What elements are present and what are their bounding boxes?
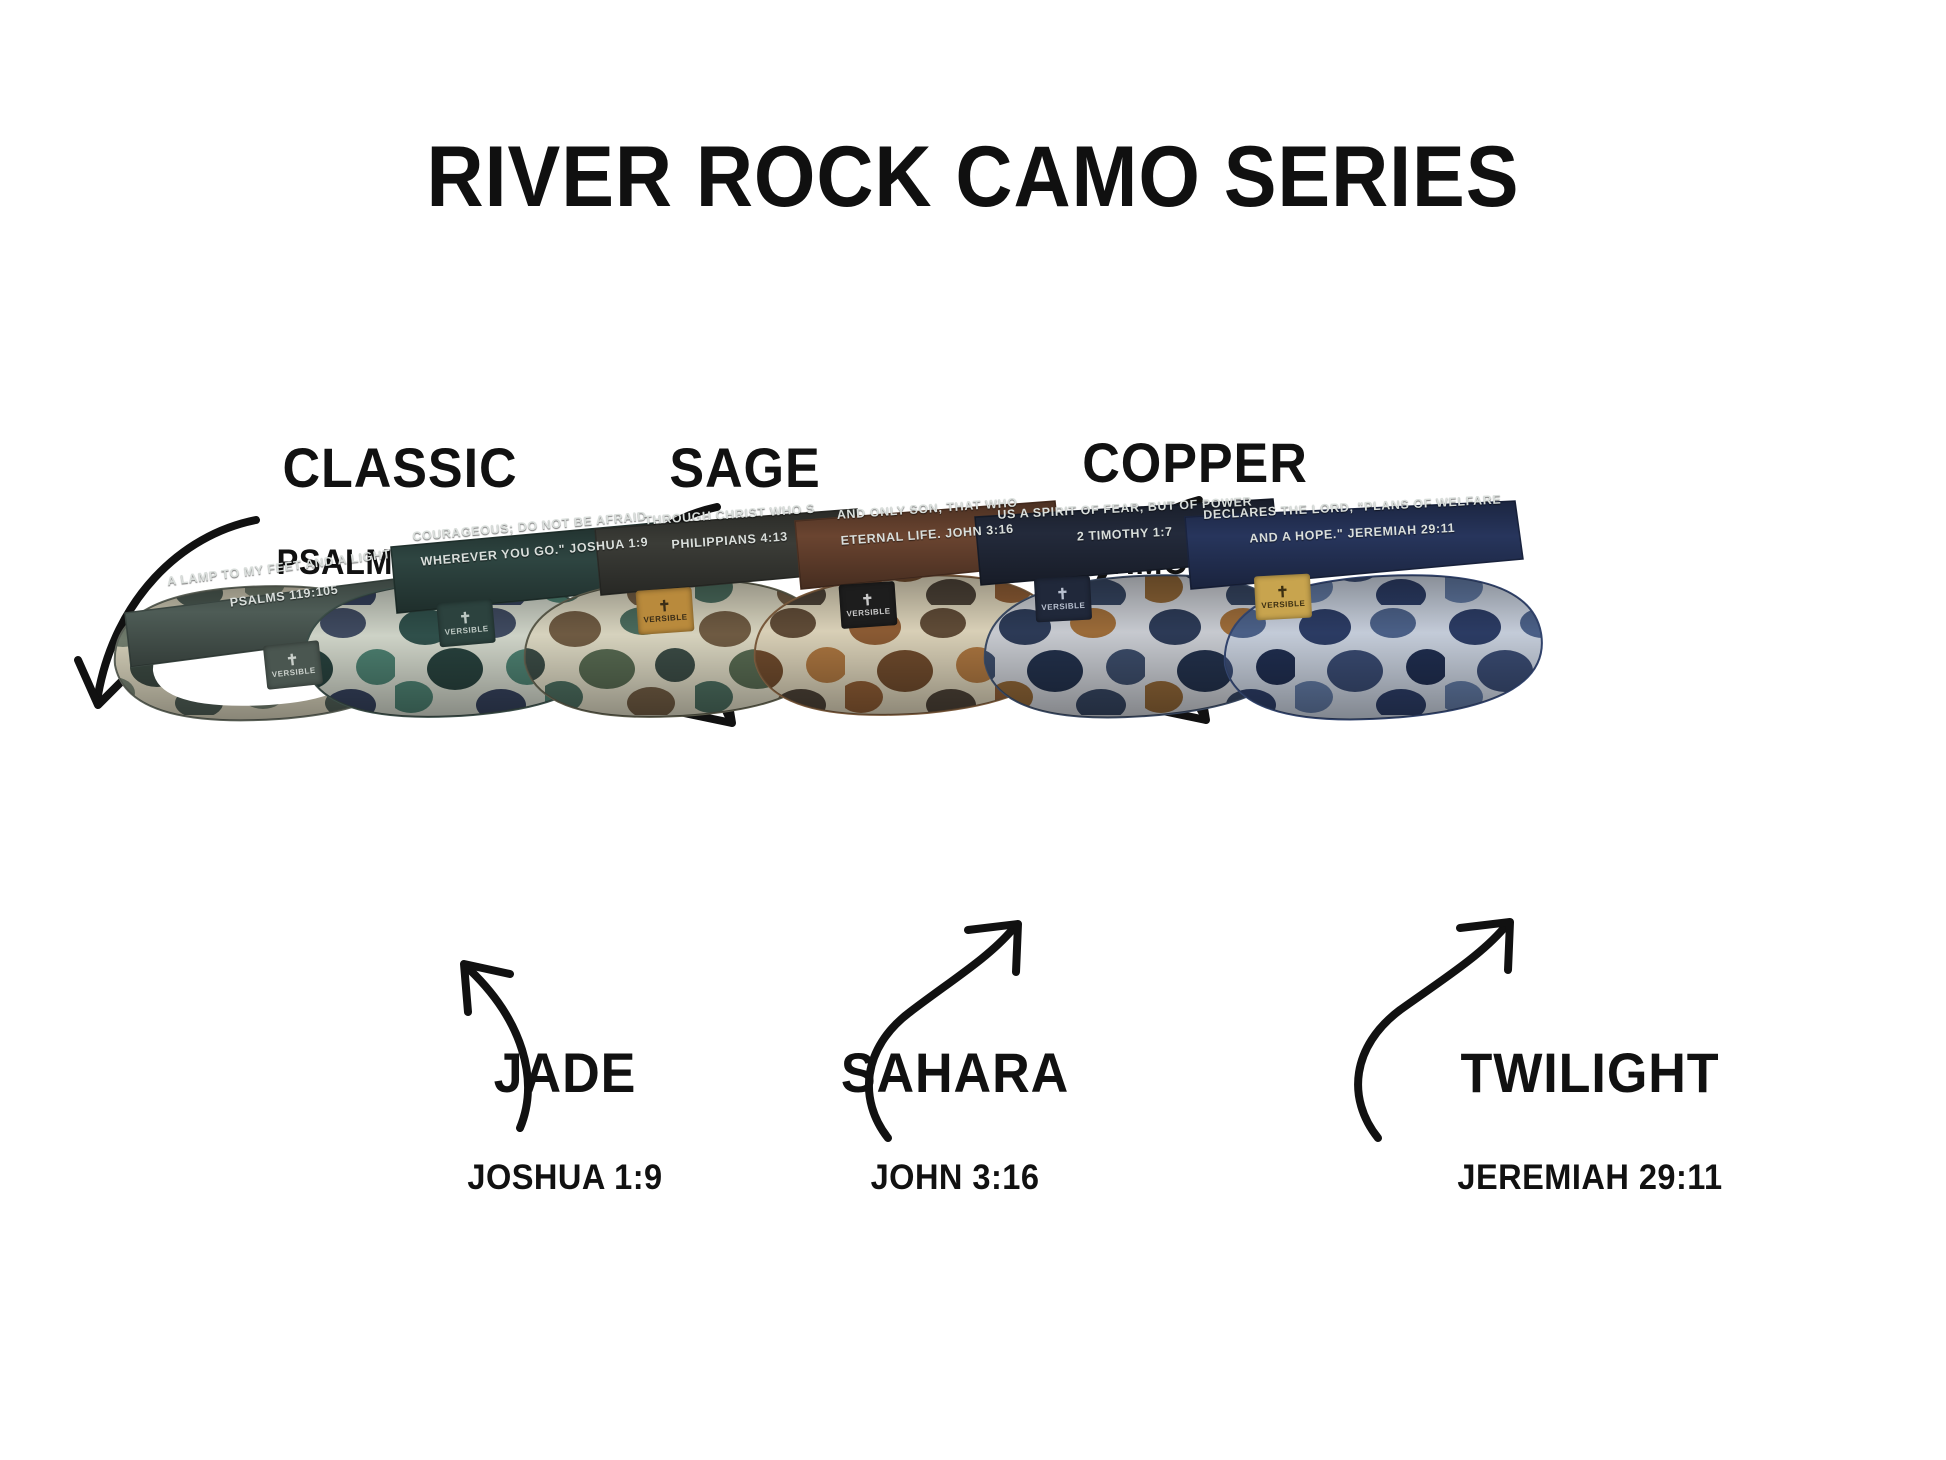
product-label-sage: SAGE bbox=[610, 440, 880, 496]
product-label-classic: CLASSIC bbox=[256, 440, 544, 496]
brand-tag-label: VERSIBLE bbox=[271, 666, 316, 680]
brand-tag-classic: ✝ VERSIBLE bbox=[263, 640, 323, 690]
cross-icon: ✝ bbox=[1056, 587, 1070, 603]
brand-tag-label: VERSIBLE bbox=[643, 612, 688, 624]
infographic-canvas: RIVER ROCK CAMO SERIES CLASSIC PSALM 119… bbox=[0, 0, 1946, 1460]
product-verse-twilight: JEREMIAH 29:11 bbox=[1395, 1160, 1786, 1195]
product-label-jade: JADE bbox=[449, 1045, 682, 1101]
arrow-sahara-icon bbox=[840, 900, 1070, 1150]
brand-tag-sahara: ✝ VERSIBLE bbox=[839, 581, 898, 629]
cross-icon: ✝ bbox=[658, 599, 672, 615]
arrow-jade-icon bbox=[410, 930, 600, 1140]
product-verse-jade: JOSHUA 1:9 bbox=[421, 1160, 709, 1195]
product-photo-group: A LAMP TO MY FEET AND A LIGHT PSALMS 119… bbox=[95, 495, 1855, 825]
arrow-twilight-icon bbox=[1330, 900, 1560, 1150]
product-verse-sahara: JOHN 3:16 bbox=[820, 1160, 1090, 1195]
brand-tag-label: VERSIBLE bbox=[1261, 599, 1305, 610]
brand-tag-label: VERSIBLE bbox=[444, 624, 489, 637]
brand-tag-label: VERSIBLE bbox=[846, 606, 891, 618]
brand-tag-copper: ✝ VERSIBLE bbox=[1034, 576, 1092, 623]
brand-tag-label: VERSIBLE bbox=[1041, 601, 1085, 612]
cross-icon: ✝ bbox=[285, 652, 300, 668]
page-title: RIVER ROCK CAMO SERIES bbox=[78, 128, 1868, 227]
product-label-sahara: SAHARA bbox=[802, 1045, 1109, 1101]
cross-icon: ✝ bbox=[458, 610, 472, 626]
cross-icon: ✝ bbox=[861, 593, 875, 609]
brand-tag-jade: ✝ VERSIBLE bbox=[436, 599, 496, 648]
bracelets-illustration bbox=[95, 495, 1855, 825]
brand-tag-sage: ✝ VERSIBLE bbox=[636, 587, 695, 635]
cross-icon: ✝ bbox=[1276, 585, 1290, 601]
product-label-copper: COPPER bbox=[1042, 435, 1349, 491]
brand-tag-twilight: ✝ VERSIBLE bbox=[1254, 574, 1312, 621]
product-label-twilight: TWILIGHT bbox=[1404, 1045, 1776, 1101]
